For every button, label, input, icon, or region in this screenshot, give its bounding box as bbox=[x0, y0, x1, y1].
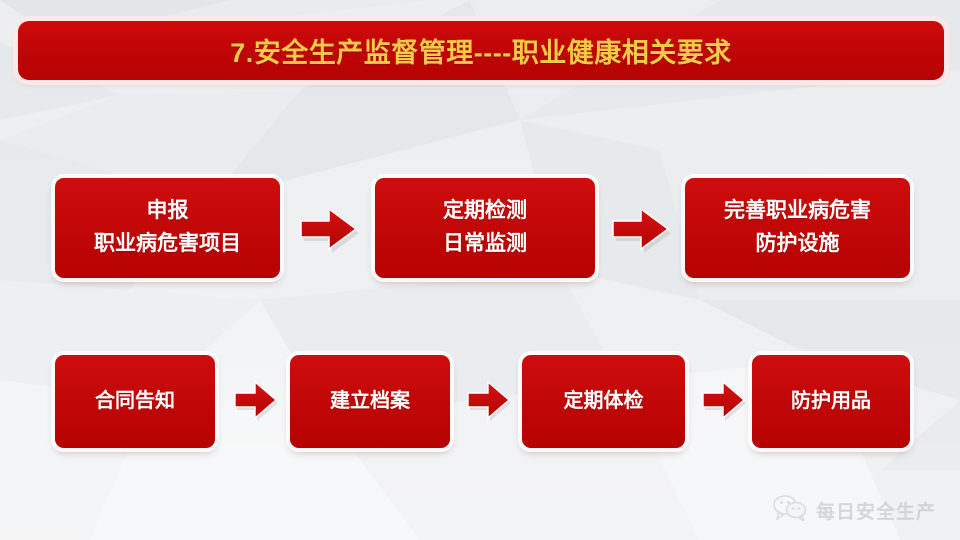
flow-box-line-1: 防护用品 bbox=[791, 386, 871, 417]
flow-box-contract-notification[interactable]: 合同告知 bbox=[55, 355, 215, 448]
flow-box-line-1: 定期体检 bbox=[564, 386, 644, 417]
slide-canvas: 7.安全生产监督管理----职业健康相关要求 申报 职业病危害项目 定期检测 日… bbox=[0, 0, 960, 540]
flow-box-line-1: 申报 bbox=[147, 195, 189, 228]
flow-box-line-1: 建立档案 bbox=[330, 386, 410, 417]
flow-box-line-2: 防护设施 bbox=[756, 228, 840, 261]
watermark: 每日安全生产 bbox=[773, 494, 936, 526]
flow-box-improve-protection-facilities[interactable]: 完善职业病危害 防护设施 bbox=[685, 178, 910, 278]
watermark-text: 每日安全生产 bbox=[816, 497, 936, 524]
arrow-2-icon bbox=[608, 205, 670, 253]
flow-box-line-1: 定期检测 bbox=[443, 195, 527, 228]
flow-box-line-2: 职业病危害项目 bbox=[94, 228, 241, 261]
flow-box-line-1: 完善职业病危害 bbox=[724, 195, 871, 228]
flow-box-periodic-physical-exam[interactable]: 定期体检 bbox=[522, 355, 685, 448]
flow-box-establish-records[interactable]: 建立档案 bbox=[290, 355, 450, 448]
arrow-3-icon bbox=[232, 379, 278, 421]
flow-box-periodic-and-daily-monitoring[interactable]: 定期检测 日常监测 bbox=[375, 178, 595, 278]
flow-box-declare-occupational-hazard-project[interactable]: 申报 职业病危害项目 bbox=[55, 178, 280, 278]
arrow-5-icon bbox=[700, 379, 746, 421]
page-title: 7.安全生产监督管理----职业健康相关要求 bbox=[230, 31, 731, 70]
arrow-4-icon bbox=[465, 379, 511, 421]
wechat-icon bbox=[773, 494, 807, 526]
flow-box-protective-equipment[interactable]: 防护用品 bbox=[752, 355, 910, 448]
flow-box-line-2: 日常监测 bbox=[443, 228, 527, 261]
slide-title-banner: 7.安全生产监督管理----职业健康相关要求 bbox=[18, 21, 944, 80]
arrow-1-icon bbox=[296, 205, 358, 253]
flow-box-line-1: 合同告知 bbox=[95, 386, 175, 417]
